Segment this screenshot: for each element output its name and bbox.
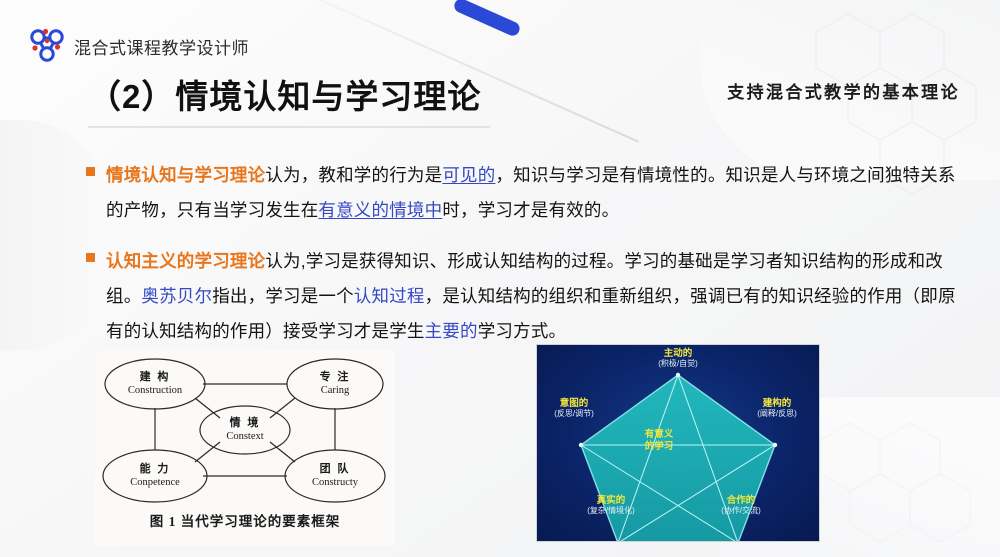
figure1-caption: 图 1 当代学习理论的要素框架 — [95, 510, 395, 530]
brand-title: 混合式课程教学设计师 — [74, 34, 249, 59]
svg-text:能 力: 能 力 — [140, 461, 171, 475]
svg-text:情 境: 情 境 — [230, 415, 261, 429]
bullet-text-1: 情境认知与学习理论认为，教和学的行为是可见的，知识与学习是有情境性的。知识是人与… — [106, 158, 966, 228]
svg-text:团 队: 团 队 — [320, 461, 351, 475]
decor-blue-stroke — [452, 0, 522, 38]
figure-meaningful-learning-pentagon: 有意义 的学习 主动的 (积极/自觉) 意图的 (反思/调节) 建构的 (阐释/… — [536, 344, 820, 542]
center-line-1: 有意义 — [645, 429, 674, 440]
svg-text:Constext: Constext — [226, 431, 263, 442]
molecule-network-icon — [29, 28, 65, 62]
bullet-item-2: 认知主义的学习理论认为,学习是获得知识、形成认知结构的过程。学习的基础是学习者知… — [86, 244, 966, 349]
orange-square-bullet-icon — [86, 167, 95, 176]
bullet2-seg-6: 主要的 — [425, 321, 478, 341]
svg-text:建 构: 建 构 — [140, 369, 171, 383]
orange-square-bullet-icon — [86, 253, 95, 262]
page-title: （2）情境认知与学习理论 — [88, 70, 481, 118]
bullet-text-2: 认知主义的学习理论认为,学习是获得知识、形成认知结构的过程。学习的基础是学习者知… — [106, 244, 966, 349]
bullet2-seg-4: 认知过程 — [354, 286, 425, 306]
decor-hexagon-lattice-bottom — [800, 417, 990, 557]
bullet1-seg-5: 时，学习才是有效的。 — [442, 200, 619, 220]
bullet2-seg-2: 奥苏贝尔 — [141, 286, 212, 306]
svg-text:Constructy: Constructy — [312, 477, 359, 488]
pentagon-center-label: 有意义 的学习 — [619, 429, 699, 453]
svg-text:Construction: Construction — [128, 385, 183, 396]
bullet1-seg-2: 可见的 — [442, 165, 495, 185]
bullet2-seg-0: 认知主义的学习理论 — [106, 251, 265, 271]
bullet1-seg-4: 有意义的情境中 — [318, 200, 442, 220]
bullet1-seg-0: 情境认知与学习理论 — [106, 165, 265, 185]
svg-text:Conpetence: Conpetence — [130, 477, 180, 488]
subject-label: 支持混合式教学的基本理论 — [727, 78, 960, 103]
bullet-list: 情境认知与学习理论认为，教和学的行为是可见的，知识与学习是有情境性的。知识是人与… — [86, 158, 966, 365]
bullet-item-1: 情境认知与学习理论认为，教和学的行为是可见的，知识与学习是有情境性的。知识是人与… — [86, 158, 966, 228]
svg-text:专 注: 专 注 — [320, 369, 351, 383]
bullet2-seg-7: 学习方式。 — [478, 321, 567, 341]
slide-canvas: 混合式课程教学设计师 支持混合式教学的基本理论 （2）情境认知与学习理论 情境认… — [0, 0, 1000, 557]
center-line-2: 的学习 — [645, 441, 674, 452]
bullet2-seg-3: 指出，学习是一个 — [212, 286, 354, 306]
svg-text:Caring: Caring — [321, 385, 350, 396]
title-underline — [88, 126, 490, 128]
bullet1-seg-1: 认为，教和学的行为是 — [265, 165, 442, 185]
